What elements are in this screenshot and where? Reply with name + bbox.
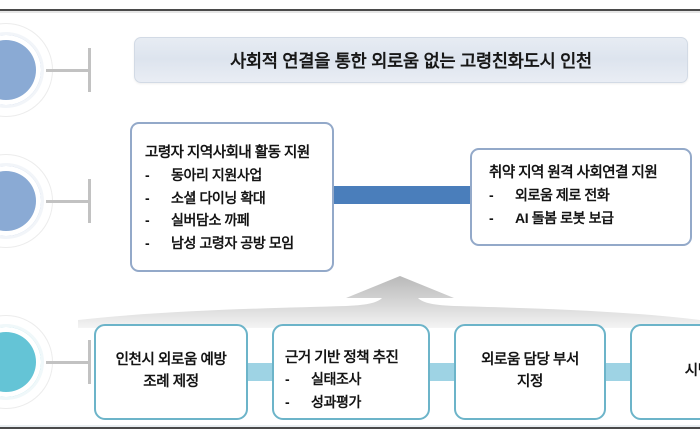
- title-banner: 사회적 연결을 통한 외로움 없는 고령친화도시 인천: [134, 37, 688, 83]
- bottom-divider-rule: [0, 427, 700, 429]
- list-item-label: 외로움 제로 전화: [515, 184, 609, 207]
- bullet-dash: -: [489, 184, 515, 207]
- bullet-dash: -: [145, 164, 171, 187]
- bullet-dash: -: [145, 187, 171, 210]
- remote-connection-heading: 취약 지역 원격 사회연결 지원: [489, 161, 657, 182]
- bullet-dash: -: [145, 232, 171, 255]
- diagram-canvas: 사회적 연결을 통한 외로움 없는 고령친화도시 인천 고령자 지역사회내 활동…: [0, 0, 700, 440]
- department-line-1: 외로움 담당 부서: [481, 350, 579, 372]
- left-node-group-2: [0, 155, 80, 251]
- citizen-awareness-line-1: 시민 인: [685, 361, 700, 383]
- node-connector-tick-2: [88, 179, 91, 223]
- ordinance-box: 인천시 외로움 예방 조례 제정: [94, 324, 248, 420]
- node-connector-tick-3: [88, 340, 91, 384]
- node-connector-tick-1: [88, 48, 91, 92]
- node-circle-1-icon: [0, 24, 52, 116]
- community-activity-box: 고령자 지역사회내 활동 지원 - 동아리 지원사업 - 소셜 다이닝 확대 -…: [130, 122, 334, 272]
- bullet-dash: -: [285, 391, 311, 414]
- list-item: - 동아리 지원사업: [145, 164, 294, 187]
- node-connector-line-3: [46, 361, 90, 364]
- left-node-group-1: [0, 24, 80, 120]
- list-item-label: 성과평가: [311, 391, 361, 414]
- ordinance-line-2: 조례 제정: [143, 372, 198, 394]
- node-circle-2-icon: [0, 155, 52, 247]
- list-item-label: 실버담소 까페: [171, 209, 249, 232]
- list-item-label: AI 돌봄 로봇 보급: [515, 207, 614, 230]
- list-item: - AI 돌봄 로봇 보급: [489, 207, 614, 230]
- remote-connection-box: 취약 지역 원격 사회연결 지원 - 외로움 제로 전화 - AI 돌봄 로봇 …: [470, 148, 692, 246]
- list-item: - 외로움 제로 전화: [489, 184, 614, 207]
- ordinance-box-text: 인천시 외로움 예방 조례 제정: [96, 326, 246, 418]
- list-item: - 남성 고령자 공방 모임: [145, 232, 294, 255]
- bullet-dash: -: [489, 207, 515, 230]
- evidence-policy-heading: 근거 기반 정책 추진: [285, 346, 398, 367]
- department-box: 외로움 담당 부서 지정: [454, 324, 606, 420]
- community-activity-list: - 동아리 지원사업 - 소셜 다이닝 확대 - 실버담소 까페 - 남성 고령…: [145, 164, 294, 255]
- left-node-group-3: [0, 316, 80, 412]
- mid-row-connector-bar: [332, 186, 474, 204]
- list-item-label: 남성 고령자 공방 모임: [171, 232, 294, 255]
- bullet-dash: -: [285, 368, 311, 391]
- node-connector-line-2: [46, 200, 90, 203]
- department-box-text: 외로움 담당 부서 지정: [456, 326, 604, 418]
- list-item: - 실태조사: [285, 368, 361, 391]
- ordinance-line-1: 인천시 외로움 예방: [116, 350, 227, 372]
- title-banner-text: 사회적 연결을 통한 외로움 없는 고령친화도시 인천: [230, 48, 592, 73]
- department-line-2: 지정: [517, 372, 543, 394]
- list-item-label: 실태조사: [311, 368, 361, 391]
- list-item: - 실버담소 까페: [145, 209, 294, 232]
- citizen-awareness-box: 시민 인: [630, 324, 700, 420]
- upward-arrow-icon: [78, 276, 700, 328]
- community-activity-heading: 고령자 지역사회내 활동 지원: [145, 141, 310, 162]
- list-item-label: 소셜 다이닝 확대: [171, 187, 265, 210]
- citizen-awareness-box-text: 시민 인: [632, 326, 700, 418]
- top-divider-rule: [0, 9, 700, 11]
- bullet-dash: -: [145, 209, 171, 232]
- list-item: - 소셜 다이닝 확대: [145, 187, 294, 210]
- list-item-label: 동아리 지원사업: [171, 164, 262, 187]
- node-circle-3-icon: [0, 316, 52, 408]
- evidence-policy-box: 근거 기반 정책 추진 - 실태조사 - 성과평가: [272, 324, 430, 420]
- remote-connection-list: - 외로움 제로 전화 - AI 돌봄 로봇 보급: [489, 184, 614, 229]
- list-item: - 성과평가: [285, 391, 361, 414]
- evidence-policy-list: - 실태조사 - 성과평가: [285, 368, 361, 413]
- node-connector-line-1: [46, 69, 90, 72]
